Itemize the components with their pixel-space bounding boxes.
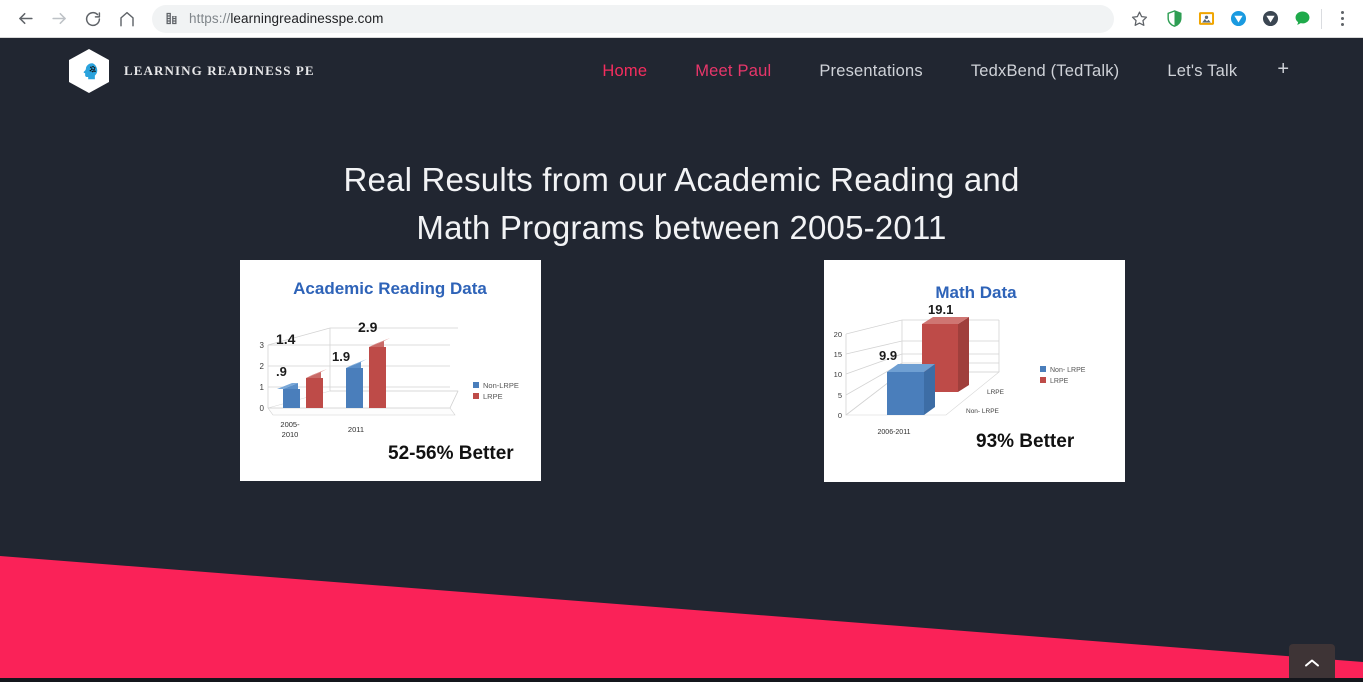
y-tick-0: 0 — [838, 411, 842, 420]
legend-label-non-lrpe: Non- LRPE — [1050, 367, 1086, 374]
depth-label-non-lrpe: Non- LRPE — [966, 408, 1000, 415]
chart-title: Math Data — [935, 283, 1017, 302]
math-data-chart[interactable]: Math Data — [824, 260, 1125, 482]
legend-label-non-lrpe: Non-LRPE — [483, 381, 519, 390]
y-tick-5: 5 — [838, 391, 842, 400]
x-tick-1: 2011 — [348, 425, 364, 434]
y-tick-15: 15 — [834, 350, 842, 359]
blue-shield-extension-icon[interactable] — [1222, 3, 1254, 35]
x-tick-0-l2: 2010 — [282, 430, 299, 439]
address-bar[interactable]: https://learningreadinesspe.com — [152, 5, 1114, 33]
chevron-up-icon — [1304, 658, 1320, 668]
nav-more-button[interactable]: + — [1261, 55, 1305, 87]
data-label-non-lrpe-2005-2010: .9 — [276, 364, 287, 379]
three-dot-menu-icon[interactable] — [1327, 3, 1357, 35]
y-tick-2: 2 — [260, 362, 265, 371]
shield-extension-icon[interactable] — [1158, 3, 1190, 35]
x-tick-0-l1: 2005- — [280, 420, 300, 429]
y-tick-3: 3 — [260, 341, 265, 350]
main-navigation: Home Meet Paul Presentations TedxBend (T… — [578, 38, 1305, 104]
nav-item-home[interactable]: Home — [578, 56, 671, 87]
academic-reading-chart[interactable]: Academic Reading Data — [240, 260, 541, 481]
data-label-lrpe: 19.1 — [928, 302, 953, 317]
green-bubble-extension-icon[interactable] — [1286, 3, 1318, 35]
reload-icon[interactable] — [76, 2, 110, 36]
scroll-to-top-button[interactable] — [1289, 644, 1335, 682]
academic-reading-chart-svg: Academic Reading Data — [240, 260, 541, 481]
legend-label-lrpe: LRPE — [483, 392, 503, 401]
chart-annotation: 52-56% Better — [388, 443, 514, 464]
page-title-line-2: Math Programs between 2005-2011 — [0, 204, 1363, 252]
browser-toolbar: https://learningreadinesspe.com — [0, 0, 1363, 38]
extension-icons — [1158, 3, 1318, 35]
image-extension-icon[interactable] — [1190, 3, 1222, 35]
back-arrow-icon[interactable] — [8, 2, 42, 36]
site-header: LEARNING READINESS PE Home Meet Paul Pre… — [0, 38, 1363, 104]
page-title: Real Results from our Academic Reading a… — [0, 156, 1363, 252]
home-icon[interactable] — [110, 2, 144, 36]
depth-label-lrpe: LRPE — [987, 389, 1005, 396]
page-bottom-edge — [0, 678, 1363, 682]
math-data-chart-svg: Math Data — [824, 260, 1125, 482]
nav-item-tedxbend[interactable]: TedxBend (TedTalk) — [947, 56, 1144, 87]
nav-item-lets-talk[interactable]: Let's Talk — [1143, 56, 1261, 87]
y-tick-1: 1 — [260, 383, 265, 392]
data-label-lrpe-2005-2010: 1.4 — [276, 331, 296, 347]
y-tick-20: 20 — [834, 330, 842, 339]
y-tick-0: 0 — [260, 404, 265, 413]
chart-title: Academic Reading Data — [293, 279, 487, 298]
website-viewport: LEARNING READINESS PE Home Meet Paul Pre… — [0, 38, 1363, 682]
bar-non-lrpe — [887, 364, 935, 415]
forward-arrow-icon[interactable] — [42, 2, 76, 36]
data-label-non-lrpe: 9.9 — [879, 348, 897, 363]
url-scheme: https:// — [189, 11, 230, 26]
data-label-lrpe-2011: 2.9 — [358, 319, 378, 335]
x-tick-0: 2006-2011 — [878, 429, 911, 436]
address-bar-text: https://learningreadinesspe.com — [189, 11, 383, 26]
site-brand[interactable]: LEARNING READINESS PE — [68, 48, 315, 94]
nav-item-meet-paul[interactable]: Meet Paul — [671, 56, 795, 87]
browser-window: https://learningreadinesspe.com — [0, 0, 1363, 682]
chart-annotation: 93% Better — [976, 431, 1075, 452]
site-info-icon[interactable] — [164, 11, 179, 26]
y-tick-10: 10 — [834, 370, 842, 379]
results-charts: Academic Reading Data — [0, 260, 1363, 482]
url-host: learningreadinesspe.com — [230, 11, 383, 26]
site-brand-name: LEARNING READINESS PE — [124, 63, 315, 79]
nav-item-presentations[interactable]: Presentations — [795, 56, 947, 87]
star-icon[interactable] — [1124, 4, 1154, 34]
data-label-non-lrpe-2011: 1.9 — [332, 349, 350, 364]
toolbar-divider — [1321, 9, 1322, 29]
dark-shield-extension-icon[interactable] — [1254, 3, 1286, 35]
page-title-line-1: Real Results from our Academic Reading a… — [343, 161, 1019, 198]
legend-label-lrpe: LRPE — [1050, 378, 1069, 385]
hexagon-brain-head-logo — [68, 48, 110, 94]
